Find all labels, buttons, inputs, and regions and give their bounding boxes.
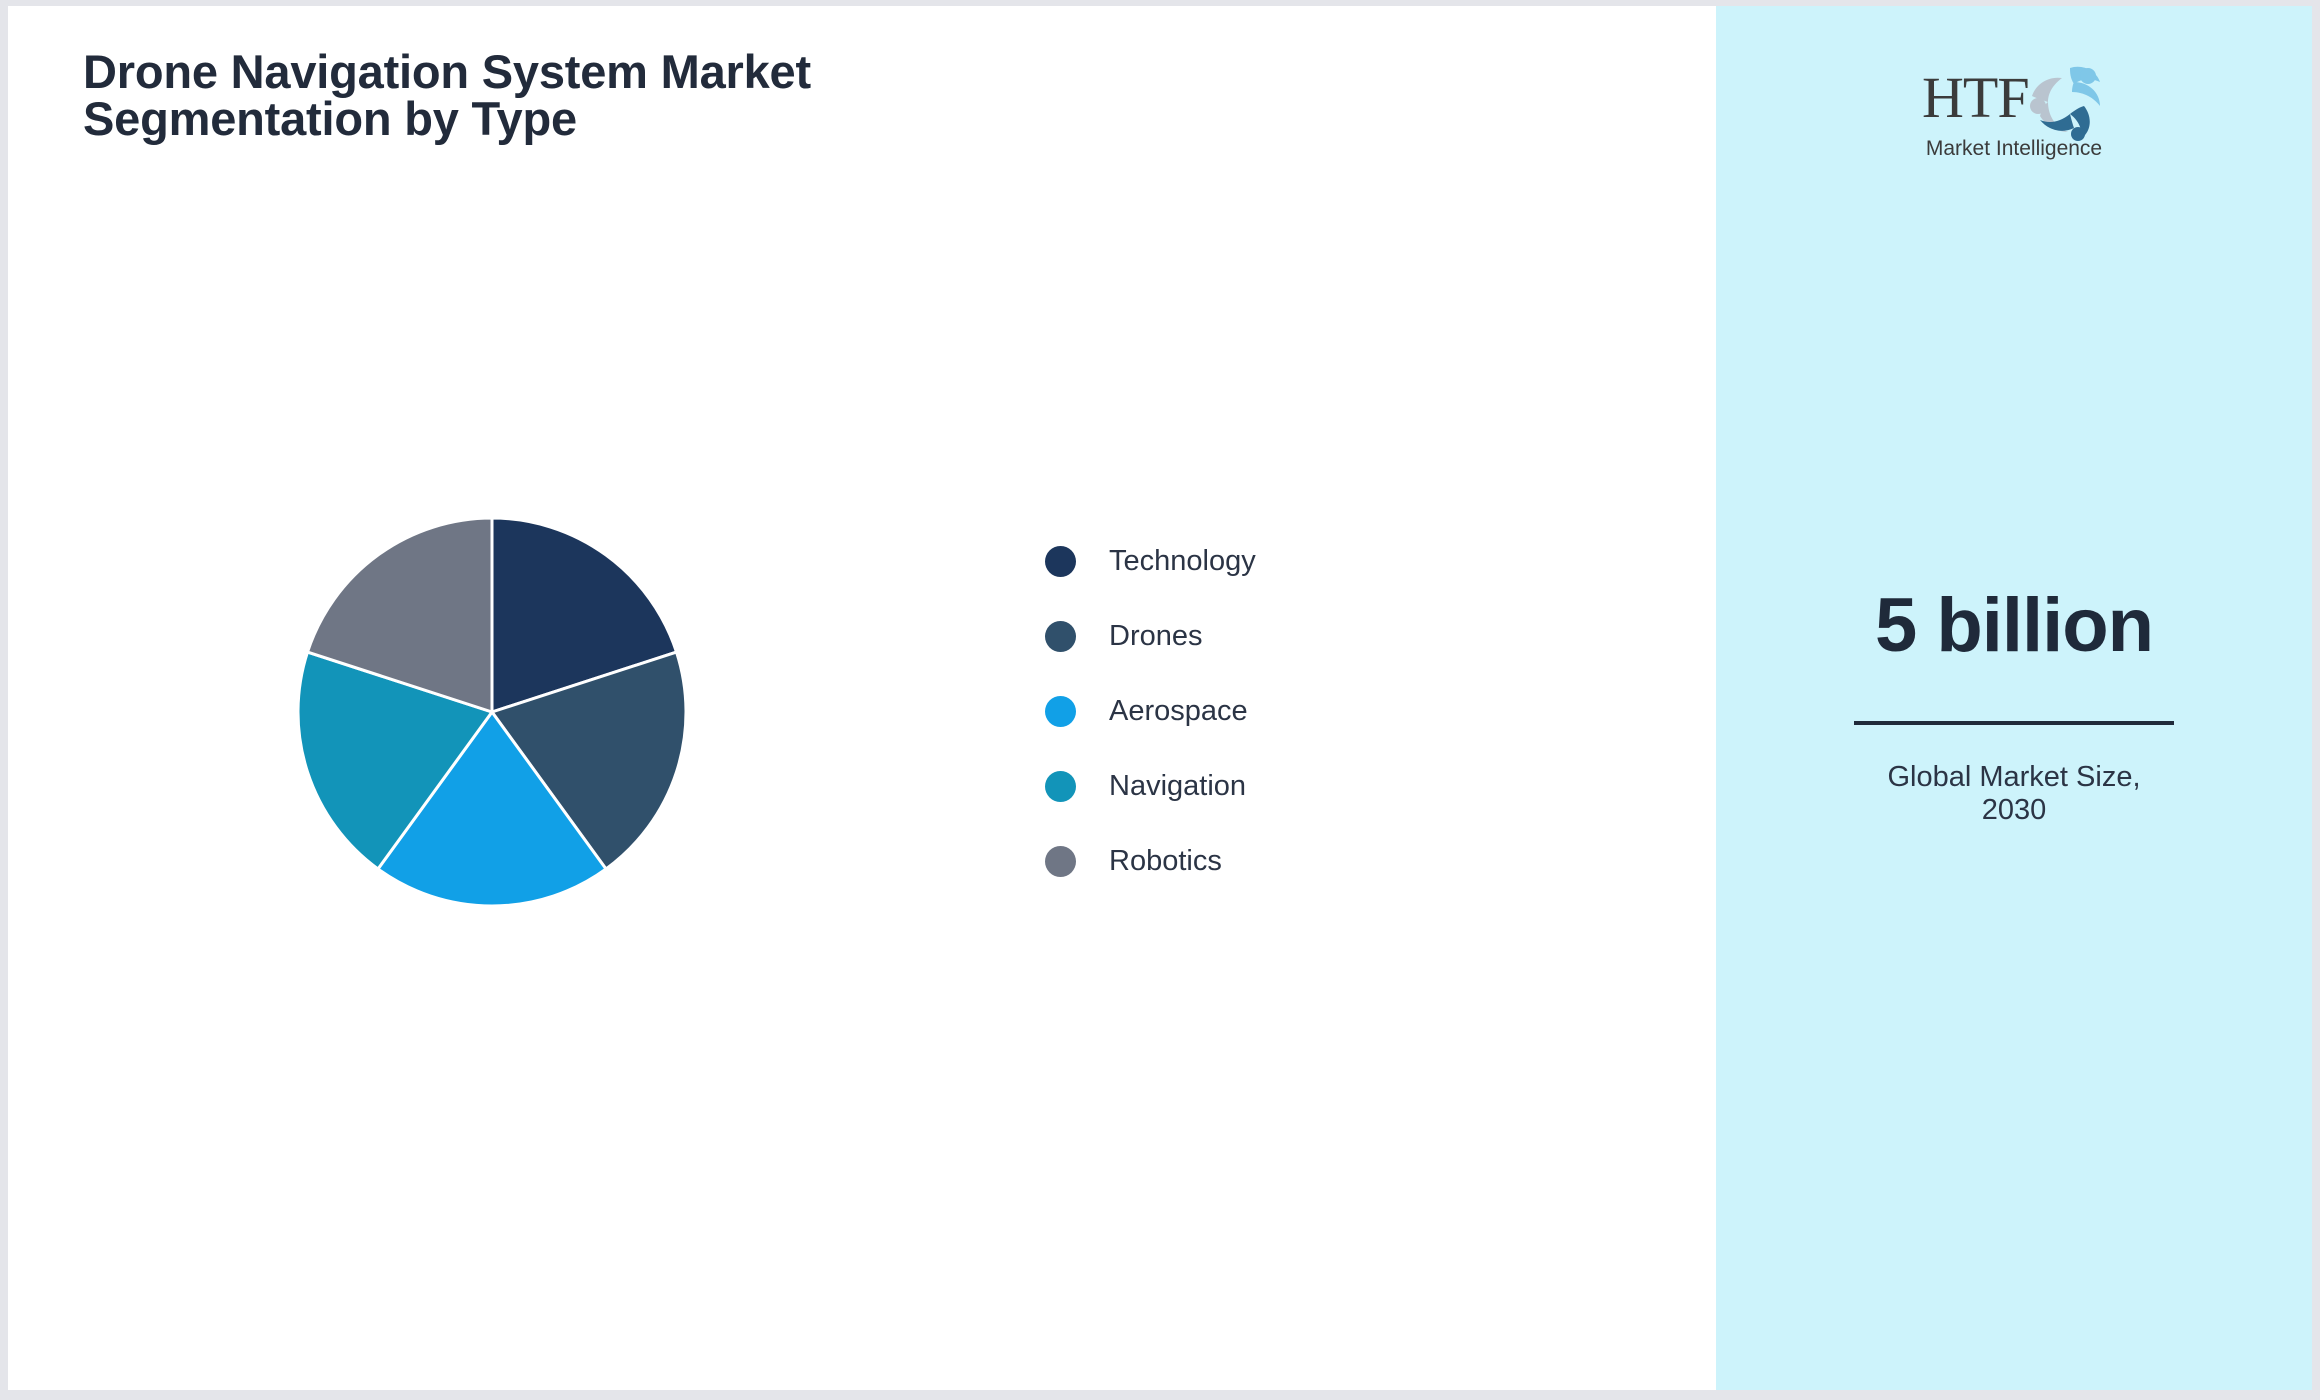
stat-divider <box>1854 721 2174 725</box>
legend-swatch-icon <box>1045 546 1076 577</box>
legend-label: Drones <box>1109 620 1203 653</box>
chart-legend: TechnologyDronesAerospaceNavigationRobot… <box>1045 524 1445 899</box>
stat-caption: Global Market Size, 2030 <box>1716 761 2312 828</box>
canvas: Drone Navigation System Market Segmentat… <box>8 6 2312 1390</box>
pie-chart-svg <box>296 516 688 908</box>
legend-item[interactable]: Drones <box>1045 599 1445 674</box>
legend-item[interactable]: Aerospace <box>1045 674 1445 749</box>
htf-logo: HTF Market Intelligence <box>1914 68 2114 159</box>
legend-label: Navigation <box>1109 770 1246 803</box>
legend-label: Robotics <box>1109 845 1222 878</box>
stat-panel: HTF Market Intelligence <box>1716 6 2312 1390</box>
stat-block: 5 billion Global Market Size, 2030 <box>1716 586 2312 828</box>
logo-letters: HTF <box>1922 68 2029 128</box>
legend-swatch-icon <box>1045 846 1076 877</box>
three-people-circle-icon <box>2022 62 2106 142</box>
legend-item[interactable]: Navigation <box>1045 749 1445 824</box>
legend-item[interactable]: Robotics <box>1045 824 1445 899</box>
legend-swatch-icon <box>1045 771 1076 802</box>
legend-label: Technology <box>1109 545 1256 578</box>
chart-panel: Drone Navigation System Market Segmentat… <box>8 6 1716 1390</box>
infographic-root: Drone Navigation System Market Segmentat… <box>0 0 2320 1400</box>
page-title: Drone Navigation System Market Segmentat… <box>83 48 1083 142</box>
legend-swatch-icon <box>1045 621 1076 652</box>
legend-swatch-icon <box>1045 696 1076 727</box>
pie-chart <box>296 516 688 908</box>
legend-item[interactable]: Technology <box>1045 524 1445 599</box>
pie-slice-group <box>298 518 686 906</box>
logo-mark: HTF <box>1914 68 2114 142</box>
stat-value: 5 billion <box>1716 586 2312 666</box>
legend-label: Aerospace <box>1109 695 1248 728</box>
